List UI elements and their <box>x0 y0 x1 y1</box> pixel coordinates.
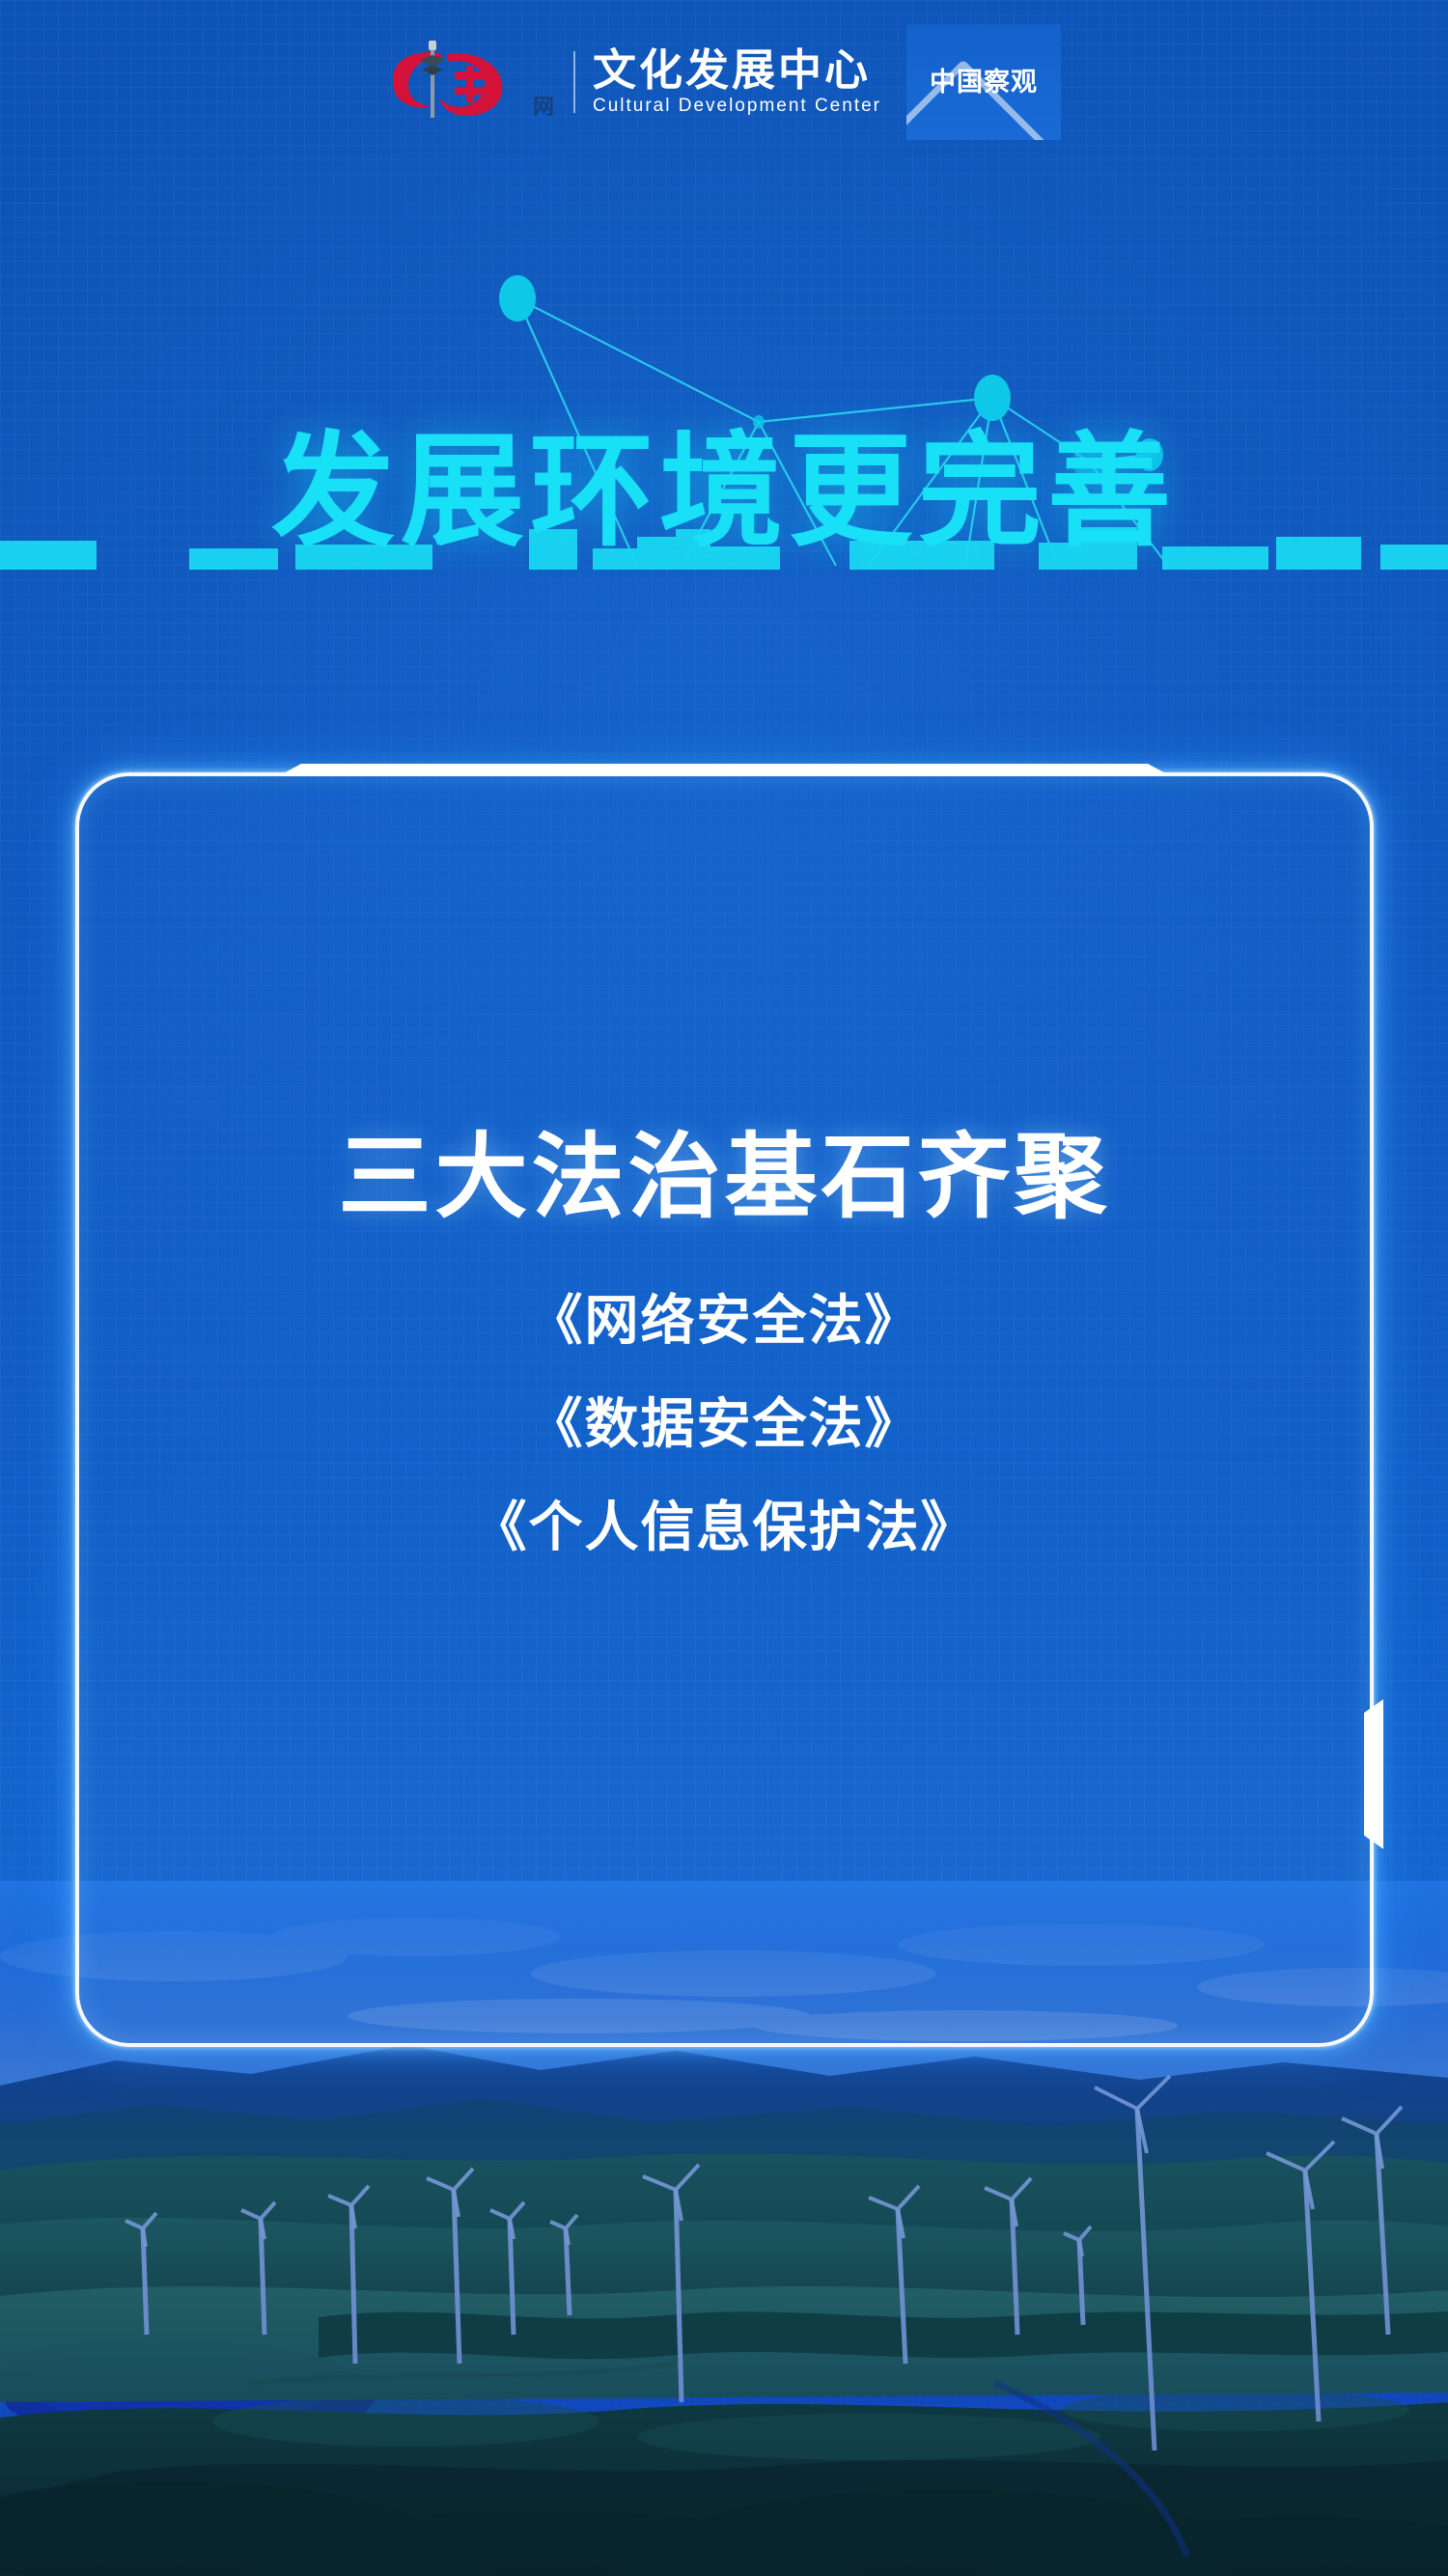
china-net-suffix-label: 网 <box>533 97 554 118</box>
page-title: 发展环境更完善 <box>0 421 1448 563</box>
frame-top-notch-left <box>278 764 741 776</box>
frame-top-notch-right <box>708 764 1171 776</box>
center-name-en: Cultural Development Center <box>593 96 881 117</box>
china-net-logo-group[interactable]: 网 文化发展中心 Cultural Development Center <box>387 41 881 124</box>
poster-root: 网 文化发展中心 Cultural Development Center 中国察… <box>0 0 1448 2576</box>
card-heading: 三大法治基石齐聚 <box>75 1120 1374 1236</box>
tv-tower-icon <box>420 39 445 120</box>
china-net-seal-logo: 网 <box>387 41 556 124</box>
list-item: 《数据安全法》 <box>75 1391 1374 1456</box>
glowing-rounded-frame: 三大法治基石齐聚 《网络安全法》 《数据安全法》 《个人信息保护法》 <box>75 772 1374 2047</box>
card-content: 三大法治基石齐聚 《网络安全法》 《数据安全法》 《个人信息保护法》 <box>75 1120 1374 1560</box>
china-observation-badge[interactable]: 中国察观 <box>906 24 1061 140</box>
law-list: 《网络安全法》 《数据安全法》 《个人信息保护法》 <box>75 1288 1374 1560</box>
frame-right-edge-accent <box>1364 1699 1383 1849</box>
china-observation-badge-label: 中国察观 <box>930 61 1038 98</box>
cultural-development-center-block: 文化发展中心 Cultural Development Center <box>593 47 881 116</box>
list-item: 《网络安全法》 <box>75 1288 1374 1353</box>
red-seal-character-icon <box>387 46 513 118</box>
logo-divider <box>573 51 575 113</box>
header-logo-bar: 网 文化发展中心 Cultural Development Center 中国察… <box>0 0 1448 164</box>
list-item: 《个人信息保护法》 <box>75 1495 1374 1559</box>
center-name-cn: 文化发展中心 <box>593 47 871 93</box>
